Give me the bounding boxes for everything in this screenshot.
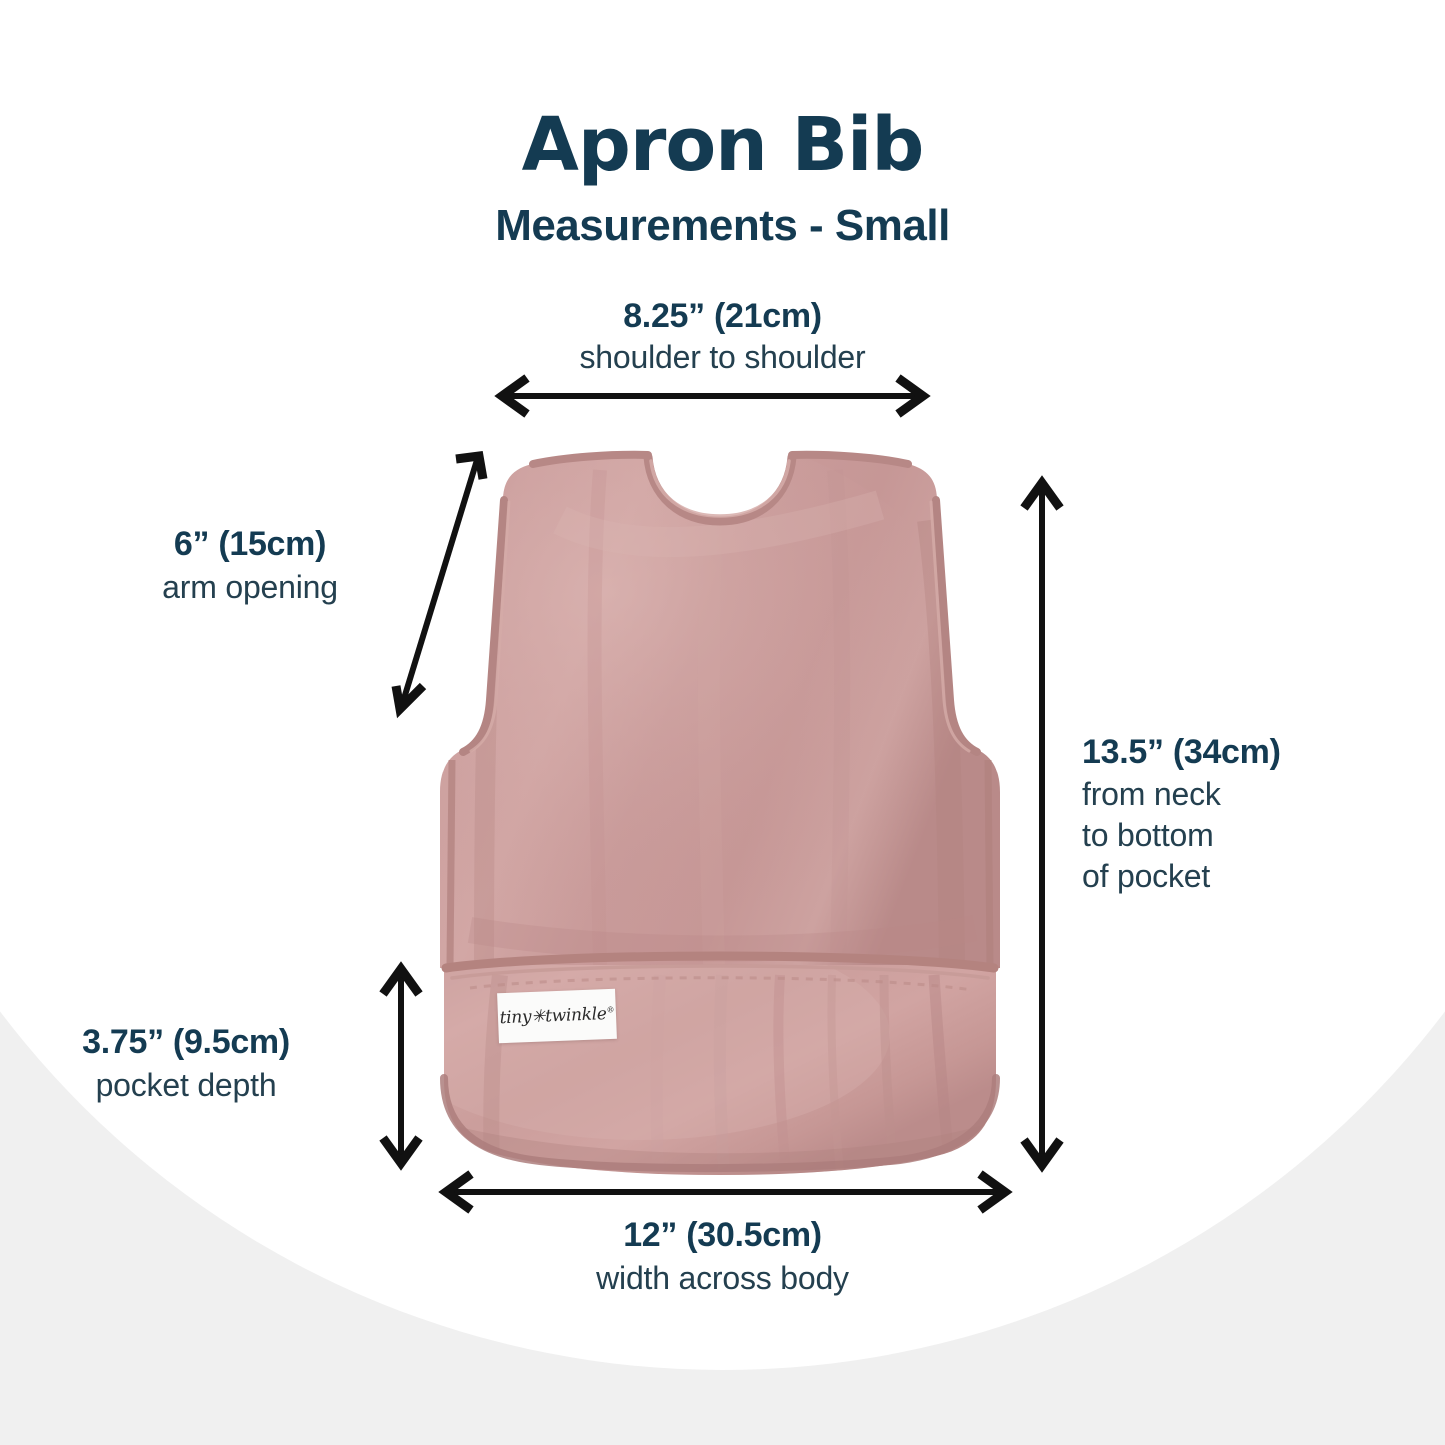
measurement-value-pocket-depth: 3.75” (9.5cm) (0, 1020, 372, 1064)
measurement-desc-neck-line-1: from neck (1082, 774, 1412, 815)
measurement-desc-neck-line-3: of pocket (1082, 856, 1412, 897)
measurement-label-neck-to-pocket: 13.5” (34cm) from neck to bottom of pock… (1082, 730, 1412, 897)
measurement-value-arm-opening: 6” (15cm) (40, 522, 460, 566)
measurement-desc-pocket-depth: pocket depth (0, 1064, 372, 1106)
arrow-shoulder-to-shoulder (502, 378, 923, 414)
measurement-desc-shoulder: shoulder to shoulder (0, 337, 1445, 377)
arrow-pocket-depth (383, 969, 419, 1163)
measurement-diagram: Apron Bib Measurements - Small (0, 0, 1445, 1445)
measurement-desc-width: width across body (0, 1257, 1445, 1299)
measurement-value-width: 12” (30.5cm) (0, 1213, 1445, 1257)
measurement-value-neck-to-pocket: 13.5” (34cm) (1082, 730, 1412, 774)
measurement-label-pocket-depth: 3.75” (9.5cm) pocket depth (0, 1020, 372, 1106)
arrow-width-across-body (446, 1174, 1005, 1210)
measurement-label-width: 12” (30.5cm) width across body (0, 1213, 1445, 1299)
arrow-neck-to-pocket (1024, 483, 1060, 1165)
measurement-label-arm-opening: 6” (15cm) arm opening (40, 522, 460, 608)
measurement-value-shoulder: 8.25” (21cm) (0, 295, 1445, 337)
measurement-label-shoulder: 8.25” (21cm) shoulder to shoulder (0, 295, 1445, 377)
measurement-desc-arm-opening: arm opening (40, 566, 460, 608)
measurement-desc-neck-line-2: to bottom (1082, 815, 1412, 856)
